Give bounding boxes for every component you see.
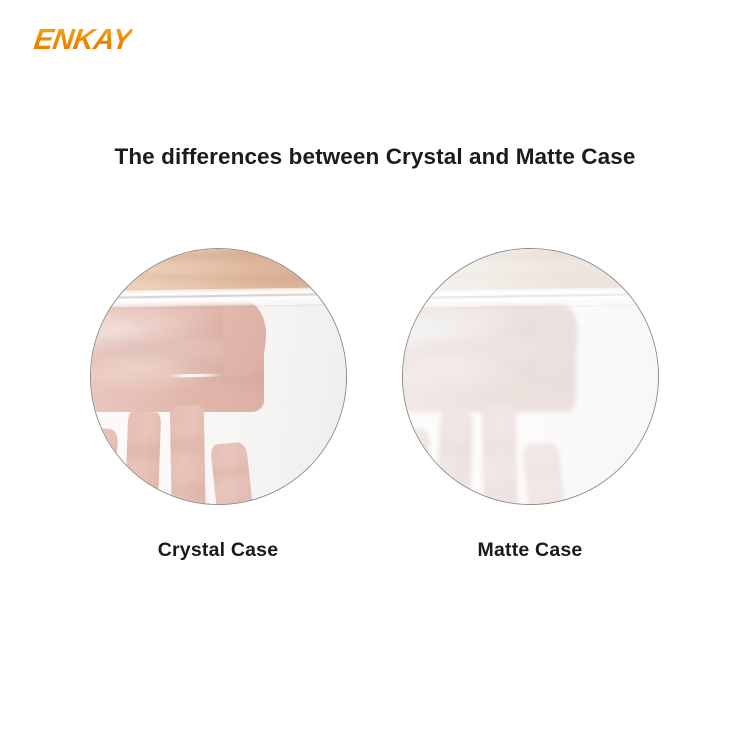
enkay-brand-logo: ENKAY: [32, 26, 133, 55]
clear-glass-overlay: [91, 249, 346, 504]
crystal-case-scene: [91, 249, 346, 504]
matte-case-photo-circle: [402, 248, 659, 505]
page-title: The differences between Crystal and Matt…: [0, 144, 750, 170]
comparison-item-matte: Matte Case: [374, 248, 686, 562]
crystal-case-photo-circle: [90, 248, 347, 505]
crystal-case-label: Crystal Case: [62, 539, 374, 562]
comparison-item-crystal: Crystal Case: [62, 248, 374, 562]
matte-case-label: Matte Case: [374, 539, 686, 562]
matte-case-scene: [403, 249, 658, 504]
frosted-matte-overlay: [403, 249, 658, 504]
case-comparison-row: Crystal Case Matte Case: [0, 248, 750, 578]
